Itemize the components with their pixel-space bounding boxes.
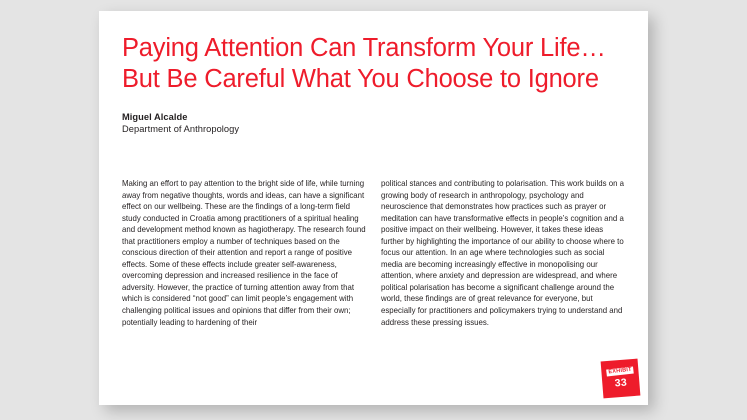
byline: Miguel Alcalde Department of Anthropolog…: [122, 112, 627, 135]
page-title: Paying Attention Can Transform Your Life…: [122, 33, 627, 95]
exhibit-stamp-label: EXHIBIT: [606, 366, 634, 376]
author-department: Department of Anthropology: [122, 124, 627, 136]
body-paragraph-left: Making an effort to pay attention to the…: [122, 178, 369, 328]
poster-header: Paying Attention Can Transform Your Life…: [122, 33, 627, 135]
body-column-right: political stances and contributing to po…: [381, 178, 628, 328]
body-column-left: Making an effort to pay attention to the…: [122, 178, 369, 328]
exhibit-stamp-number: 33: [614, 378, 627, 390]
poster-sheet: Paying Attention Can Transform Your Life…: [99, 11, 648, 405]
author-name: Miguel Alcalde: [122, 112, 627, 124]
body-columns: Making an effort to pay attention to the…: [122, 178, 628, 328]
page-title-line-1: Paying Attention Can Transform Your Life…: [122, 33, 627, 64]
body-paragraph-right: political stances and contributing to po…: [381, 178, 628, 328]
page-title-line-2: But Be Careful What You Choose to Ignore: [122, 64, 627, 95]
poster-canvas: Paying Attention Can Transform Your Life…: [0, 0, 747, 420]
exhibit-stamp: EXHIBIT 33: [601, 359, 641, 399]
